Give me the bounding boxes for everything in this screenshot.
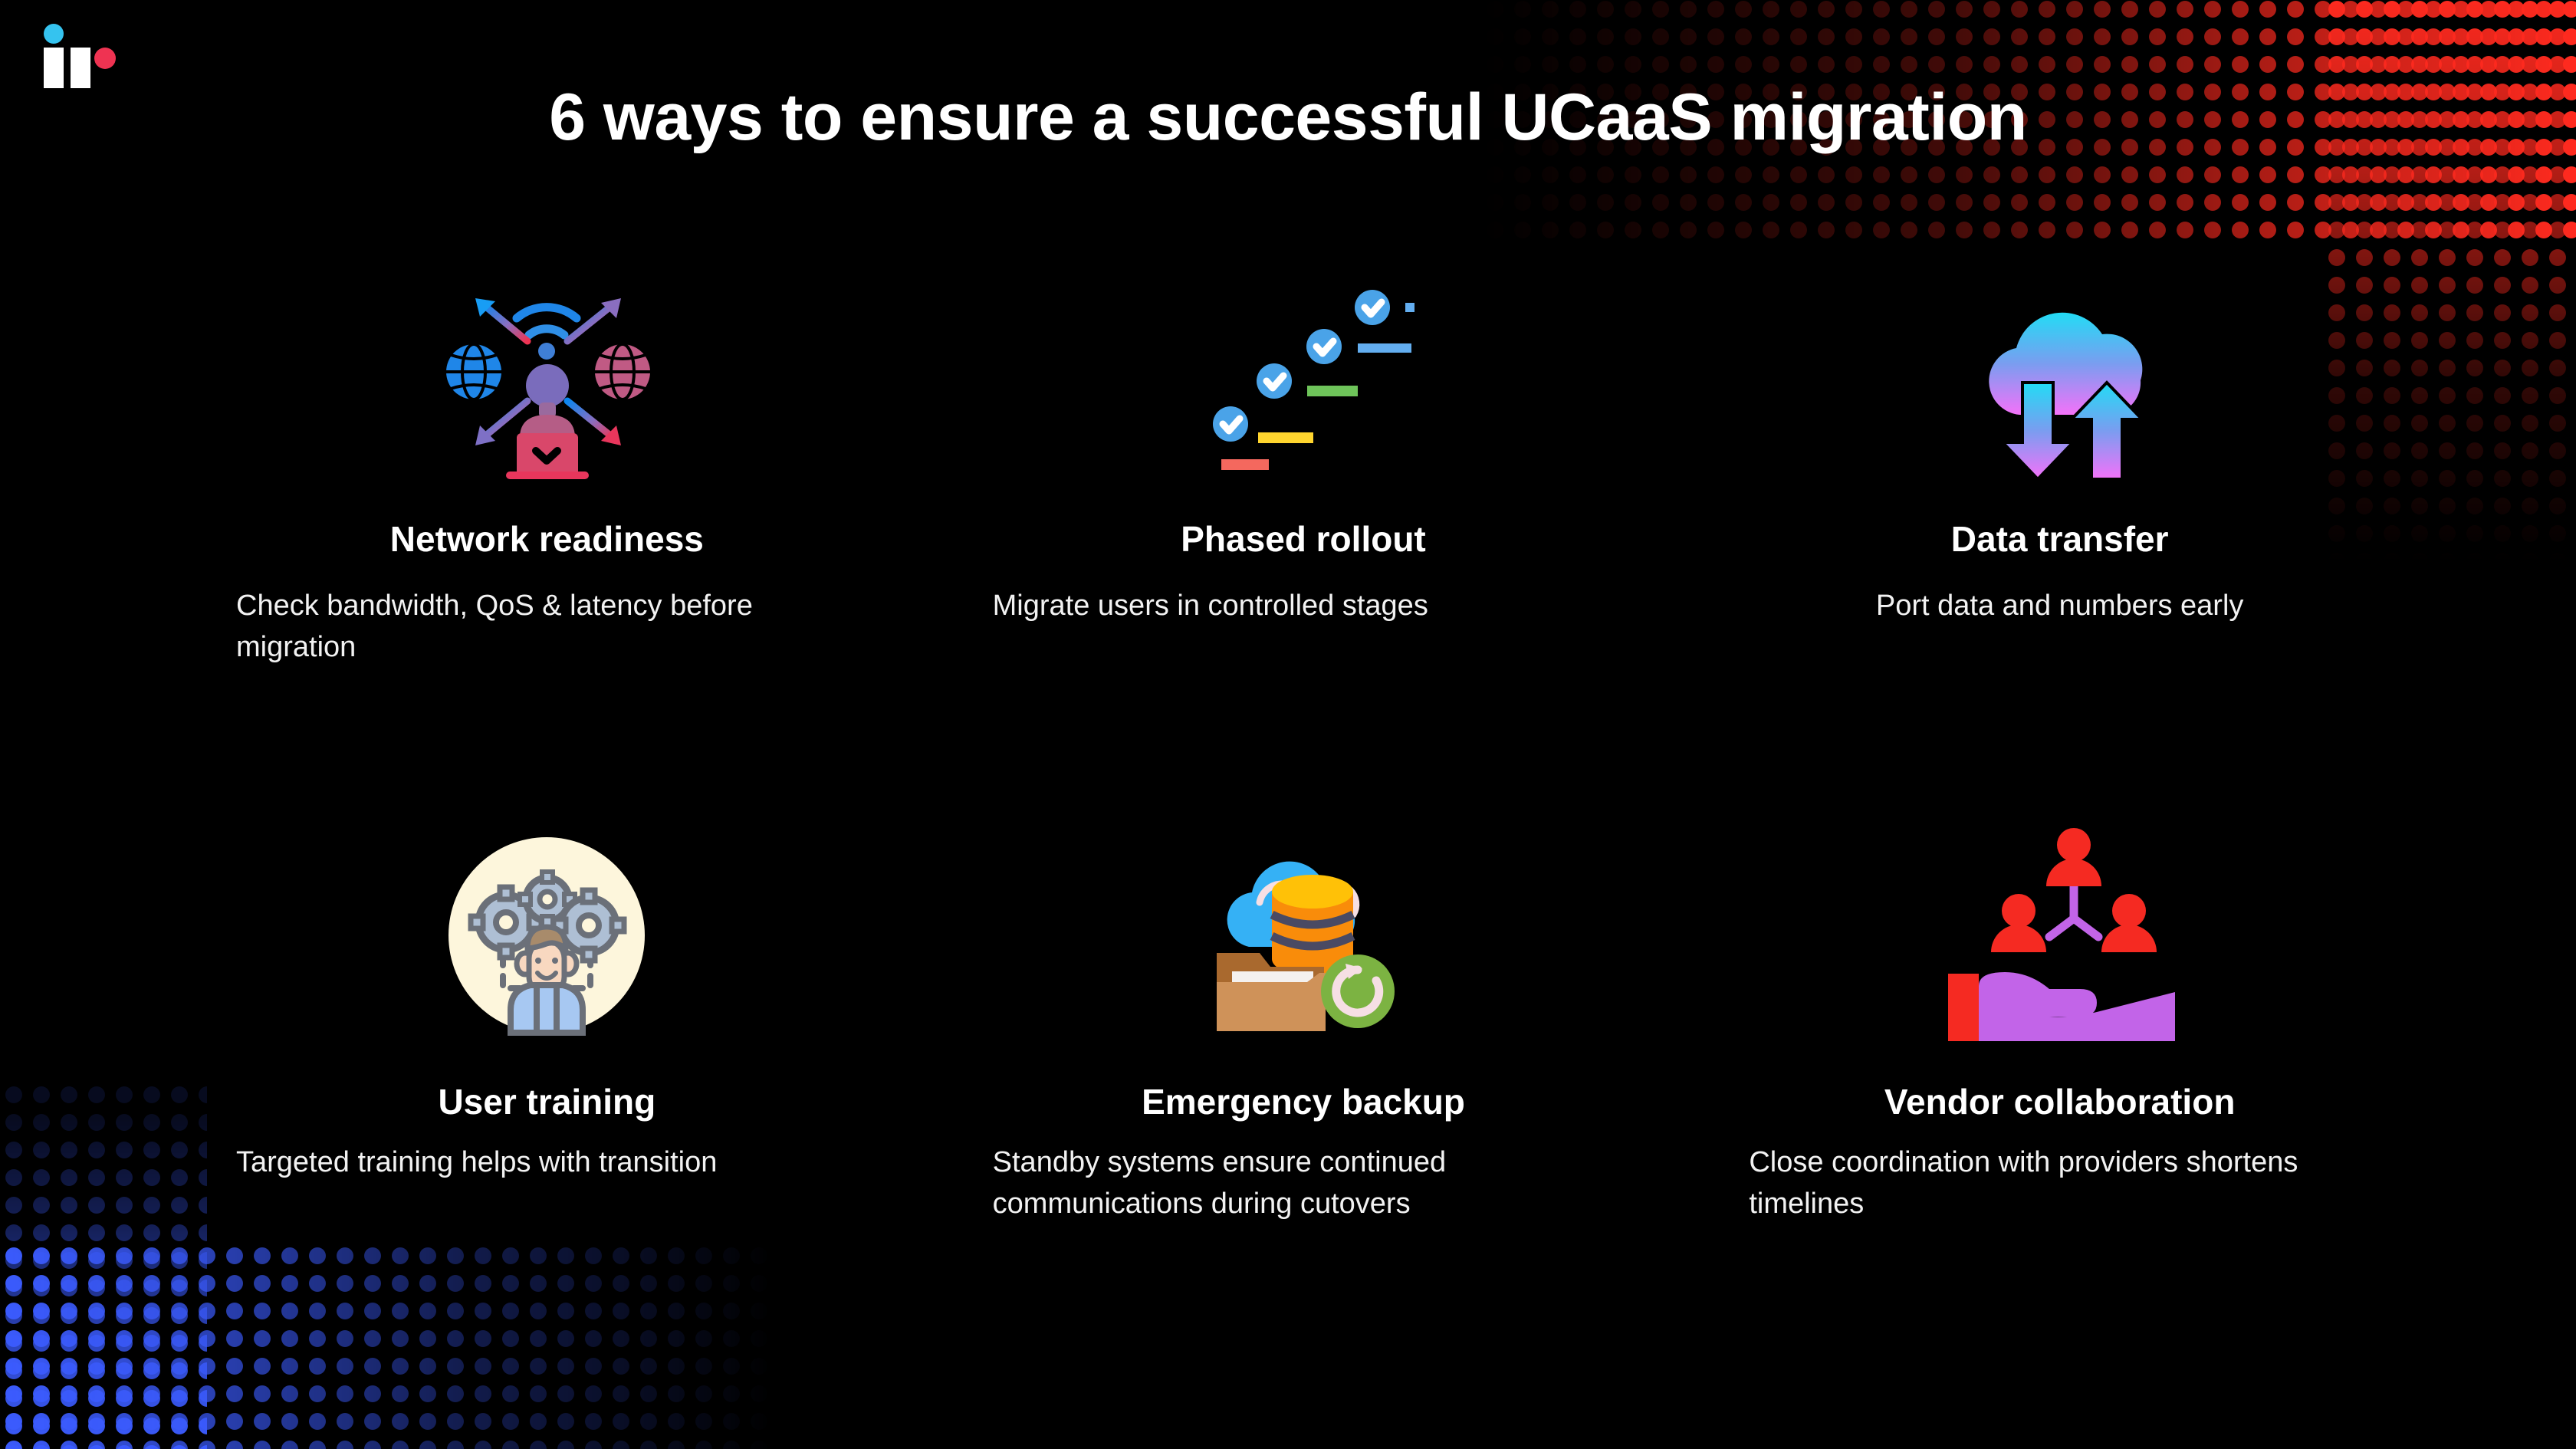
card-phased-rollout: Phased rollout Migrate users in controll…: [948, 268, 1659, 813]
card-description: Standby systems ensure continued communi…: [948, 1142, 1659, 1225]
cloud-upload-download-icon: [1964, 287, 2156, 479]
icon-emergency-backup-wrap: [948, 820, 1659, 1050]
hand-icon: [1979, 972, 2175, 1041]
card-description: Check bandwidth, QoS & latency before mi…: [192, 585, 902, 669]
cards-grid: Network readiness Check bandwidth, QoS &…: [192, 268, 2415, 1365]
check-circle-icon-4: [1355, 290, 1390, 325]
card-user-training: User training Targeted training helps wi…: [192, 820, 902, 1365]
card-title: Data transfer: [1704, 520, 2415, 559]
bar-blue-top: [1405, 303, 1414, 312]
network-globes-person-wifi-icon: [435, 287, 658, 479]
icon-network-readiness-wrap: [192, 268, 902, 498]
card-description: Port data and numbers early: [1704, 585, 2415, 627]
globe-left-icon: [446, 344, 501, 399]
bar-blue: [1358, 343, 1411, 353]
card-title: Vendor collaboration: [1704, 1083, 2415, 1122]
person-top-icon: [2046, 828, 2101, 886]
restore-icon: [1321, 955, 1395, 1028]
card-network-readiness: Network readiness Check bandwidth, QoS &…: [192, 268, 902, 813]
check-circle-icon-3: [1306, 329, 1342, 364]
logo-icon: [37, 23, 129, 92]
icon-vendor-collaboration-wrap: [1704, 820, 2415, 1050]
page-title: 6 ways to ensure a successful UCaaS migr…: [0, 83, 2576, 152]
card-description: Migrate users in controlled stages: [948, 585, 1659, 627]
card-data-transfer: Data transfer Port data and numbers earl…: [1704, 268, 2415, 813]
checklist-staircase-icon: [1192, 287, 1414, 479]
card-vendor-collaboration: Vendor collaboration Close coordination …: [1704, 820, 2415, 1365]
check-circle-icon-2: [1257, 363, 1292, 399]
person-gears-training-icon: [443, 832, 650, 1039]
icon-data-transfer-wrap: [1704, 268, 2415, 498]
card-title: Emergency backup: [948, 1083, 1659, 1122]
icon-phased-rollout-wrap: [948, 268, 1659, 498]
person-right-icon: [2101, 894, 2157, 952]
card-title: Phased rollout: [948, 520, 1659, 559]
person-left-icon: [1991, 894, 2046, 952]
bar-red: [1221, 459, 1269, 470]
cloud-database-folder-restore-icon: [1200, 832, 1407, 1039]
card-description: Targeted training helps with transition: [192, 1142, 902, 1184]
bar-green: [1307, 386, 1358, 396]
card-title: User training: [192, 1083, 902, 1122]
check-circle-icon-1: [1213, 406, 1248, 442]
card-title: Network readiness: [192, 520, 902, 559]
hand-holding-people-network-icon: [1945, 828, 2175, 1043]
sleeve: [1948, 974, 1979, 1041]
globe-right-icon: [595, 344, 650, 399]
infographic-slide: 6 ways to ensure a successful UCaaS migr…: [0, 0, 2576, 1449]
card-description: Close coordination with providers shorte…: [1704, 1142, 2415, 1225]
bar-yellow: [1258, 432, 1313, 443]
card-emergency-backup: Emergency backup Standby systems ensure …: [948, 820, 1659, 1365]
brand-logo[interactable]: [37, 23, 129, 92]
icon-user-training-wrap: [192, 820, 902, 1050]
halftone-bottom-left-vertical: [0, 1081, 207, 1449]
